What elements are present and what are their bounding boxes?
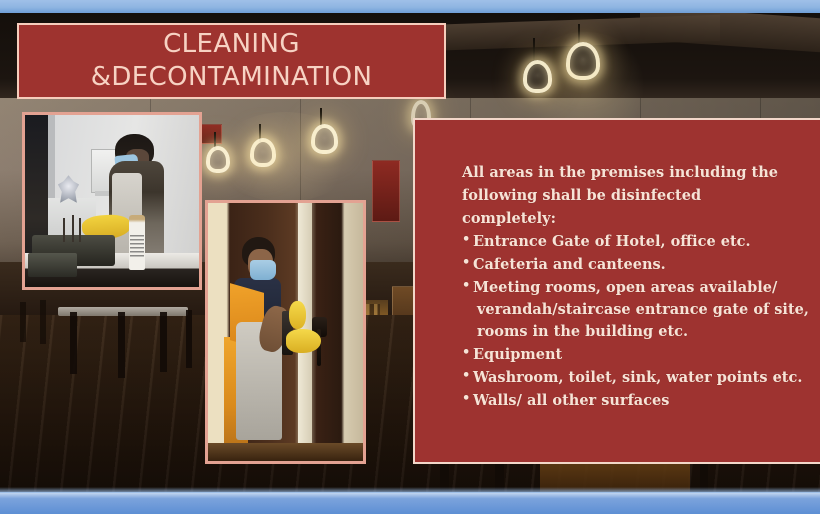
- chair-leg: [20, 302, 26, 342]
- list-item: Washroom, toilet, sink, water points etc…: [462, 367, 810, 389]
- photo2-floor: [208, 443, 363, 461]
- photo1-pen-holder-stick: [79, 218, 81, 242]
- table-leg: [118, 312, 125, 378]
- list-item-label: Equipment: [473, 346, 562, 363]
- table-leg: [160, 312, 167, 372]
- panel-intro-line-1: All areas in the premises including the: [462, 162, 810, 184]
- chair-leg: [40, 300, 46, 344]
- list-item-label: Entrance Gate of Hotel, office etc.: [473, 233, 751, 250]
- photo2-yellow-glove: [286, 329, 322, 352]
- table-leg: [186, 310, 192, 368]
- top-blue-band: [0, 0, 820, 13]
- list-item: Cafeteria and canteens.: [462, 254, 810, 276]
- photo2-yellow-glove: [289, 301, 306, 329]
- lamp-glow: [215, 112, 355, 202]
- disinfection-bullet-list: Entrance Gate of Hotel, office etc. Cafe…: [462, 231, 810, 412]
- title-line-1: CLEANING: [163, 28, 300, 61]
- table-leg: [70, 312, 77, 374]
- presentation-slide: CLEANING &DECONTAMINATION All areas in t…: [0, 0, 820, 514]
- panel-intro-line-2: following shall be disinfected: [462, 185, 810, 207]
- bottom-blue-band: [0, 492, 820, 514]
- list-item-label: Washroom, toilet, sink, water points etc…: [473, 369, 802, 386]
- list-item: Equipment: [462, 344, 810, 366]
- photo-worker-sanitizing-counter: [22, 112, 202, 290]
- disinfection-text-panel: All areas in the premises including the …: [413, 118, 820, 464]
- list-item-label: Walls/ all other surfaces: [473, 392, 669, 409]
- list-item-label: Cafeteria and canteens.: [473, 256, 666, 273]
- list-item: Walls/ all other surfaces: [462, 390, 810, 412]
- list-item-continuation: verandah/staircase entrance gate of site…: [473, 299, 810, 321]
- list-item: Entrance Gate of Hotel, office etc.: [462, 231, 810, 253]
- slide-title-box: CLEANING &DECONTAMINATION: [17, 23, 446, 99]
- photo-worker-sanitizing-door: [205, 200, 366, 464]
- photo1-counter-items: [28, 253, 77, 277]
- panel-intro-line-3: completely:: [462, 208, 810, 230]
- photo1-pen-holder-stick: [63, 218, 65, 242]
- photo1-pen-holder-stick: [72, 215, 74, 243]
- photo1-bottle-label: [130, 235, 144, 257]
- list-item: Meeting rooms, open areas available/ ver…: [462, 277, 810, 343]
- wall-signboard: [372, 160, 400, 222]
- photo2-face-mask: [250, 260, 276, 281]
- list-item-label: Meeting rooms, open areas available/: [473, 279, 777, 296]
- title-line-2: &DECONTAMINATION: [91, 61, 373, 94]
- list-item-continuation: rooms in the building etc.: [473, 321, 810, 343]
